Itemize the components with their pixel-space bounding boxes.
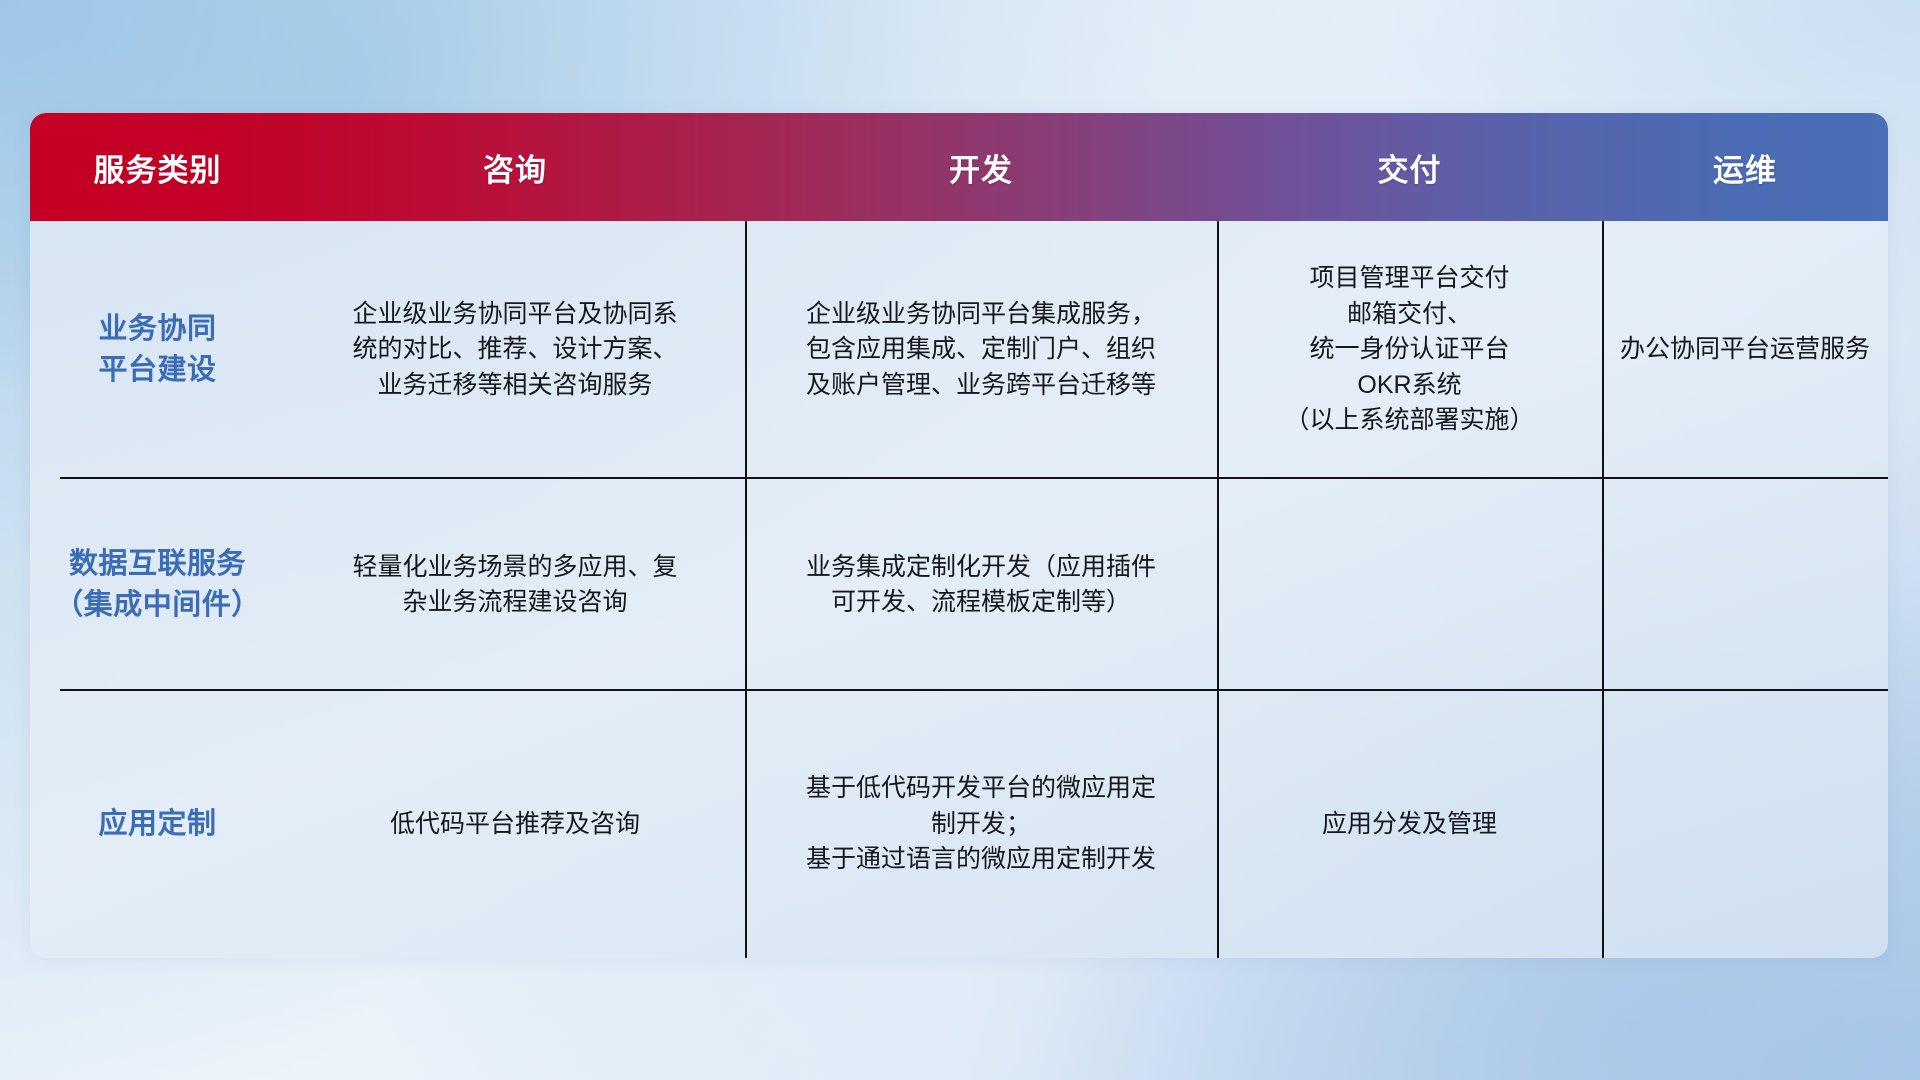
cell-text: 项目管理平台交付 邮箱交付、 统一身份认证平台 OKR系统 （以上系统部署实施）	[1284, 261, 1534, 439]
category-label: 应用定制	[98, 804, 216, 845]
column-header-consulting: 咨询	[285, 113, 745, 221]
cell-text: 基于低代码开发平台的微应用定 制开发； 基于通过语言的微应用定制开发	[806, 771, 1156, 878]
service-matrix-table: 服务类别 咨询 开发 交付 运维 业务协同 平台建设 企业级业务协同平台及协同系…	[30, 113, 1888, 958]
cell-development: 基于低代码开发平台的微应用定 制开发； 基于通过语言的微应用定制开发	[745, 691, 1217, 958]
cell-operations: 办公协同平台运营服务	[1602, 221, 1888, 479]
cell-operations	[1602, 479, 1888, 691]
cell-category: 应用定制	[30, 691, 285, 958]
table-row: 应用定制 低代码平台推荐及咨询 基于低代码开发平台的微应用定 制开发； 基于通过…	[30, 691, 1888, 958]
column-header-label: 服务类别	[94, 145, 222, 190]
cell-consulting: 轻量化业务场景的多应用、复 杂业务流程建设咨询	[285, 479, 745, 691]
column-header-label: 交付	[1378, 145, 1442, 190]
cell-category: 业务协同 平台建设	[30, 221, 285, 479]
cell-text: 企业级业务协同平台集成服务， 包含应用集成、定制门户、组织 及账户管理、业务跨平…	[806, 297, 1156, 404]
cell-consulting: 企业级业务协同平台及协同系 统的对比、推荐、设计方案、 业务迁移等相关咨询服务	[285, 221, 745, 479]
column-header-label: 运维	[1713, 145, 1777, 190]
column-header-operations: 运维	[1602, 113, 1888, 221]
column-header-development: 开发	[745, 113, 1217, 221]
column-header-category: 服务类别	[30, 113, 285, 221]
slide-root: { "theme": { "header_gradient_start": "#…	[0, 0, 1920, 1080]
column-header-label: 开发	[949, 145, 1013, 190]
cell-development: 业务集成定制化开发（应用插件 可开发、流程模板定制等）	[745, 479, 1217, 691]
column-header-delivery: 交付	[1217, 113, 1602, 221]
category-label: 数据互联服务 （集成中间件）	[54, 544, 261, 626]
cell-text: 应用分发及管理	[1322, 807, 1497, 843]
cell-category: 数据互联服务 （集成中间件）	[30, 479, 285, 691]
cell-development: 企业级业务协同平台集成服务， 包含应用集成、定制门户、组织 及账户管理、业务跨平…	[745, 221, 1217, 479]
cell-text: 办公协同平台运营服务	[1620, 332, 1870, 368]
table-body: 业务协同 平台建设 企业级业务协同平台及协同系 统的对比、推荐、设计方案、 业务…	[30, 221, 1888, 958]
cell-text: 企业级业务协同平台及协同系 统的对比、推荐、设计方案、 业务迁移等相关咨询服务	[352, 297, 677, 404]
cell-delivery: 应用分发及管理	[1217, 691, 1602, 958]
table-row: 数据互联服务 （集成中间件） 轻量化业务场景的多应用、复 杂业务流程建设咨询 业…	[30, 479, 1888, 691]
cell-text: 低代码平台推荐及咨询	[390, 807, 640, 843]
table-header-row: 服务类别 咨询 开发 交付 运维	[30, 113, 1888, 221]
cell-delivery: 项目管理平台交付 邮箱交付、 统一身份认证平台 OKR系统 （以上系统部署实施）	[1217, 221, 1602, 479]
category-label: 业务协同 平台建设	[98, 309, 216, 391]
cell-delivery	[1217, 479, 1602, 691]
cell-text: 轻量化业务场景的多应用、复 杂业务流程建设咨询	[352, 550, 677, 621]
table-row: 业务协同 平台建设 企业级业务协同平台及协同系 统的对比、推荐、设计方案、 业务…	[30, 221, 1888, 479]
cell-consulting: 低代码平台推荐及咨询	[285, 691, 745, 958]
cell-operations	[1602, 691, 1888, 958]
cell-text: 业务集成定制化开发（应用插件 可开发、流程模板定制等）	[806, 550, 1156, 621]
column-header-label: 咨询	[483, 145, 547, 190]
